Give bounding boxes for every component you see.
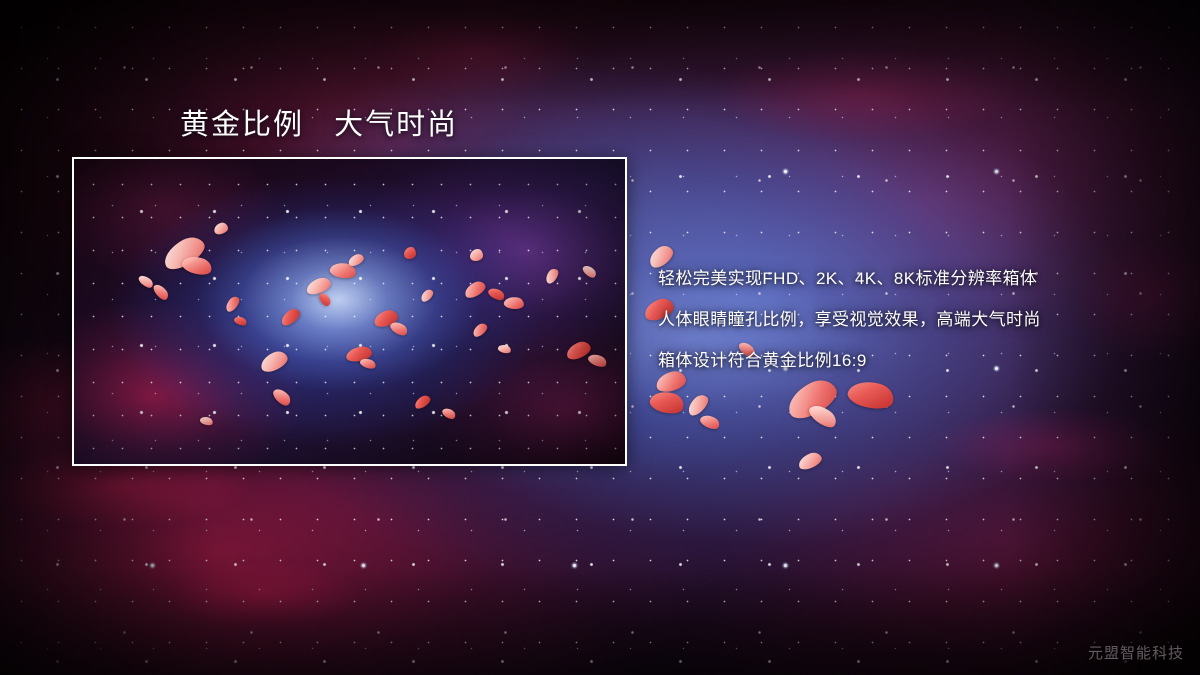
copy-line-3: 箱体设计符合黄金比例16:9 xyxy=(658,340,1178,381)
frame-vignette xyxy=(74,159,625,464)
page-title: 黄金比例 大气时尚 xyxy=(180,101,458,143)
slide-canvas: 黄金比例 大气时尚 轻松完美实现FHD、2K、4K、8K标准分辨率箱体 人体眼睛… xyxy=(0,0,1200,675)
media-frame[interactable] xyxy=(72,157,627,466)
copy-line-2: 人体眼睛瞳孔比例，享受视觉效果，高端大气时尚 xyxy=(658,299,1178,340)
copy-line-1: 轻松完美实现FHD、2K、4K、8K标准分辨率箱体 xyxy=(658,258,1178,299)
watermark: 元盟智能科技 xyxy=(1088,642,1184,663)
body-copy: 轻松完美实现FHD、2K、4K、8K标准分辨率箱体 人体眼睛瞳孔比例，享受视觉效… xyxy=(658,258,1178,381)
frame-image xyxy=(74,159,625,464)
